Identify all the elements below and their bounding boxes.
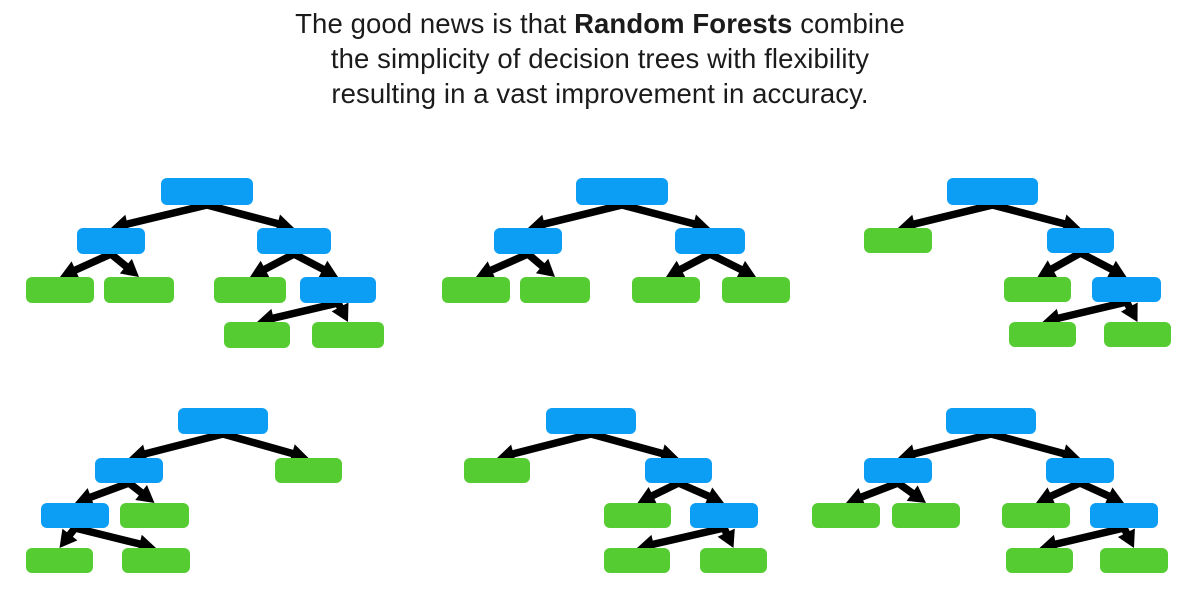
tree-edge bbox=[528, 254, 544, 268]
tree-edge-arrowhead bbox=[332, 303, 349, 322]
tree-edge bbox=[88, 483, 129, 498]
tree-edge bbox=[125, 205, 207, 225]
decision-node-t4-root bbox=[178, 408, 268, 434]
tree-edge bbox=[73, 254, 111, 271]
tree-edge bbox=[898, 483, 915, 495]
decision-node-t2-n-r bbox=[675, 228, 745, 254]
decision-node-t2-n-l bbox=[494, 228, 562, 254]
tree-edge-arrowhead bbox=[907, 485, 926, 503]
tree-edge bbox=[1053, 528, 1124, 545]
tree-edge bbox=[678, 254, 710, 271]
tree-edge bbox=[511, 434, 591, 455]
decision-node-t2-root bbox=[576, 178, 668, 205]
tree-edge-arrowhead bbox=[1118, 529, 1135, 548]
leaf-node-t6-leaf-3 bbox=[1002, 503, 1070, 528]
tree-edge-arrowhead bbox=[250, 261, 269, 278]
leaf-node-t4-leaf-4 bbox=[122, 548, 190, 573]
tree-edge bbox=[1081, 253, 1115, 271]
decision-node-t6-n-r bbox=[1046, 458, 1114, 483]
leaf-node-t5-leaf-3 bbox=[604, 548, 670, 573]
leaf-node-t1-leaf-3 bbox=[214, 277, 286, 303]
leaf-node-t4-leaf-1 bbox=[275, 458, 342, 483]
tree-edge bbox=[542, 205, 622, 225]
tree-edge bbox=[271, 303, 338, 319]
tree-edge bbox=[338, 303, 341, 310]
leaf-node-t6-leaf-2 bbox=[892, 503, 960, 528]
decision-node-t6-root bbox=[946, 408, 1036, 434]
tree-edge bbox=[724, 528, 727, 535]
tree-edge bbox=[1124, 528, 1128, 535]
leaf-node-t4-leaf-3 bbox=[26, 548, 93, 573]
decision-node-t5-n-rr bbox=[690, 503, 758, 528]
tree-edge-arrowhead bbox=[319, 261, 338, 278]
decision-node-t3-root bbox=[947, 178, 1038, 205]
leaf-node-t3-leaf-1 bbox=[864, 228, 932, 253]
tree-edge-arrowhead bbox=[60, 529, 78, 548]
tree-edge bbox=[1050, 253, 1081, 270]
leaf-node-t5-leaf-4 bbox=[700, 548, 767, 573]
decision-node-t1-n-l bbox=[77, 228, 145, 254]
leaf-node-t3-leaf-3 bbox=[1009, 322, 1076, 347]
tree-edge-arrowhead bbox=[1107, 261, 1126, 278]
tree-edge-arrowhead bbox=[638, 487, 657, 504]
tree-edge bbox=[111, 254, 128, 268]
tree-edge-arrowhead bbox=[135, 485, 154, 503]
tree-edge bbox=[679, 483, 712, 497]
decision-node-t1-n-rr bbox=[300, 277, 376, 303]
decision-node-t5-n-r bbox=[645, 458, 712, 483]
decision-node-t1-root bbox=[161, 178, 253, 205]
decision-node-t3-n-r bbox=[1047, 228, 1114, 253]
leaf-node-t2-leaf-2 bbox=[520, 277, 590, 303]
decision-node-t6-n-rr bbox=[1090, 503, 1158, 528]
tree-edge bbox=[912, 205, 993, 225]
decision-node-t6-n-l bbox=[864, 458, 932, 483]
tree-edge bbox=[489, 254, 528, 271]
leaf-node-t2-leaf-3 bbox=[632, 277, 700, 303]
tree-edge bbox=[223, 434, 295, 454]
leaf-node-t3-leaf-2 bbox=[1004, 277, 1071, 302]
leaf-node-t6-leaf-1 bbox=[812, 503, 880, 528]
leaf-node-t1-leaf-4 bbox=[224, 322, 290, 348]
slide-canvas: The good news is that Random Forests com… bbox=[0, 0, 1200, 606]
tree-edge bbox=[129, 483, 143, 494]
leaf-node-t1-leaf-5 bbox=[312, 322, 384, 348]
leaf-node-t6-leaf-5 bbox=[1100, 548, 1168, 573]
decision-node-t1-n-r bbox=[257, 228, 331, 254]
leaf-node-t2-leaf-1 bbox=[442, 277, 510, 303]
tree-edge bbox=[859, 483, 898, 498]
tree-edge bbox=[1127, 302, 1131, 310]
leaf-node-t3-leaf-4 bbox=[1104, 322, 1171, 347]
leaf-node-t6-leaf-4 bbox=[1006, 548, 1073, 573]
tree-edge bbox=[294, 254, 326, 271]
tree-edge bbox=[75, 528, 142, 545]
tree-edge-arrowhead bbox=[737, 261, 756, 278]
tree-edge-arrowhead bbox=[666, 261, 685, 278]
tree-edge bbox=[1080, 483, 1111, 497]
tree-edge bbox=[991, 434, 1066, 454]
tree-edge bbox=[710, 254, 743, 271]
tree-edge bbox=[68, 528, 75, 537]
leaf-node-t2-leaf-4 bbox=[722, 277, 790, 303]
tree-edge bbox=[993, 205, 1067, 224]
tree-edge bbox=[1056, 302, 1126, 319]
tree-edge-arrowhead bbox=[1038, 260, 1057, 277]
leaf-node-t1-leaf-2 bbox=[104, 277, 174, 303]
tree-edge-arrowhead bbox=[536, 259, 555, 277]
leaf-node-t1-leaf-1 bbox=[26, 277, 94, 303]
tree-edge bbox=[651, 528, 724, 545]
decision-node-t5-root bbox=[546, 408, 636, 434]
decision-node-t4-n-l bbox=[95, 458, 163, 483]
tree-edge bbox=[262, 254, 294, 271]
tree-edge-arrowhead bbox=[120, 259, 139, 277]
leaf-node-t5-leaf-1 bbox=[464, 458, 530, 483]
decision-node-t4-n-ll bbox=[41, 503, 109, 528]
tree-edge bbox=[1049, 483, 1080, 497]
leaf-node-t5-leaf-2 bbox=[604, 503, 671, 528]
tree-edge bbox=[207, 205, 280, 224]
tree-edge bbox=[622, 205, 696, 224]
tree-edge-arrowhead bbox=[718, 529, 735, 548]
tree-edge bbox=[591, 434, 665, 454]
tree-edge bbox=[912, 434, 991, 455]
tree-edge bbox=[143, 434, 223, 455]
tree-edge bbox=[650, 483, 678, 497]
random-forest-diagram bbox=[0, 0, 1200, 606]
leaf-node-t4-leaf-2 bbox=[120, 503, 189, 528]
tree-edge-arrowhead bbox=[1121, 303, 1138, 322]
decision-node-t3-n-rr bbox=[1092, 277, 1161, 302]
